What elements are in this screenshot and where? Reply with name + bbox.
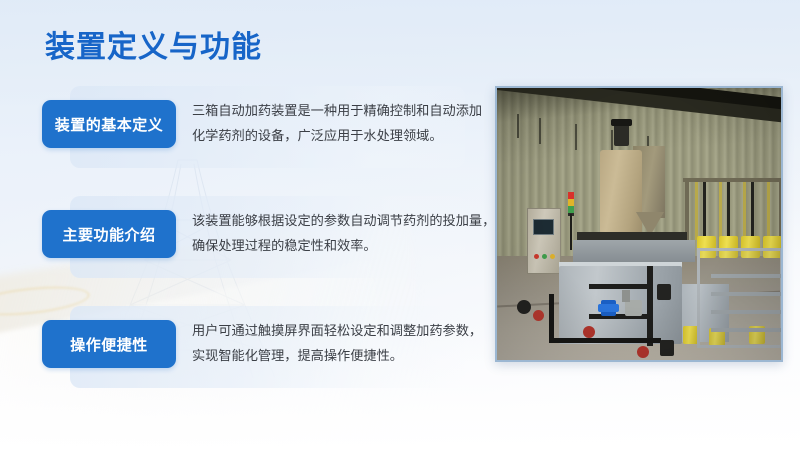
row-description: 三箱自动加药装置是一种用于精确控制和自动添加 化学药剂的设备，广泛应用于水处理领… bbox=[192, 98, 464, 148]
content-row-list: 装置的基本定义 三箱自动加药装置是一种用于精确控制和自动添加 化学药剂的设备，广… bbox=[0, 86, 470, 416]
content-row: 操作便捷性 用户可通过触摸屏界面轻松设定和调整加药参数， 实现智能化管理，提高操… bbox=[0, 306, 470, 388]
slide-canvas: 装置定义与功能 装置的基本定义 三箱自动加药装置是一种用于精确控制和自动添加 化… bbox=[0, 0, 800, 450]
row-description: 用户可通过触摸屏界面轻松设定和调整加药参数， 实现智能化管理，提高操作便捷性。 bbox=[192, 318, 464, 368]
equipment-photo bbox=[495, 86, 783, 362]
row-description-line: 化学药剂的设备，广泛应用于水处理领域。 bbox=[192, 123, 464, 148]
row-badge-operation-convenience[interactable]: 操作便捷性 bbox=[42, 320, 176, 368]
row-badge-main-functions[interactable]: 主要功能介绍 bbox=[42, 210, 176, 258]
row-description-line: 确保处理过程的稳定性和效率。 bbox=[192, 233, 464, 258]
row-description-line: 三箱自动加药装置是一种用于精确控制和自动添加 bbox=[192, 98, 464, 123]
row-description: 该装置能够根据设定的参数自动调节药剂的投加量， 确保处理过程的稳定性和效率。 bbox=[192, 208, 464, 258]
page-title: 装置定义与功能 bbox=[45, 29, 262, 67]
row-badge-basic-definition[interactable]: 装置的基本定义 bbox=[42, 100, 176, 148]
equipment-photo-content bbox=[497, 88, 781, 360]
content-row: 装置的基本定义 三箱自动加药装置是一种用于精确控制和自动添加 化学药剂的设备，广… bbox=[0, 86, 470, 168]
photo-vignette bbox=[497, 88, 781, 360]
row-description-line: 用户可通过触摸屏界面轻松设定和调整加药参数， bbox=[192, 318, 464, 343]
content-row: 主要功能介绍 该装置能够根据设定的参数自动调节药剂的投加量， 确保处理过程的稳定… bbox=[0, 196, 470, 278]
row-description-line: 该装置能够根据设定的参数自动调节药剂的投加量， bbox=[192, 208, 464, 233]
row-description-line: 实现智能化管理，提高操作便捷性。 bbox=[192, 343, 464, 368]
